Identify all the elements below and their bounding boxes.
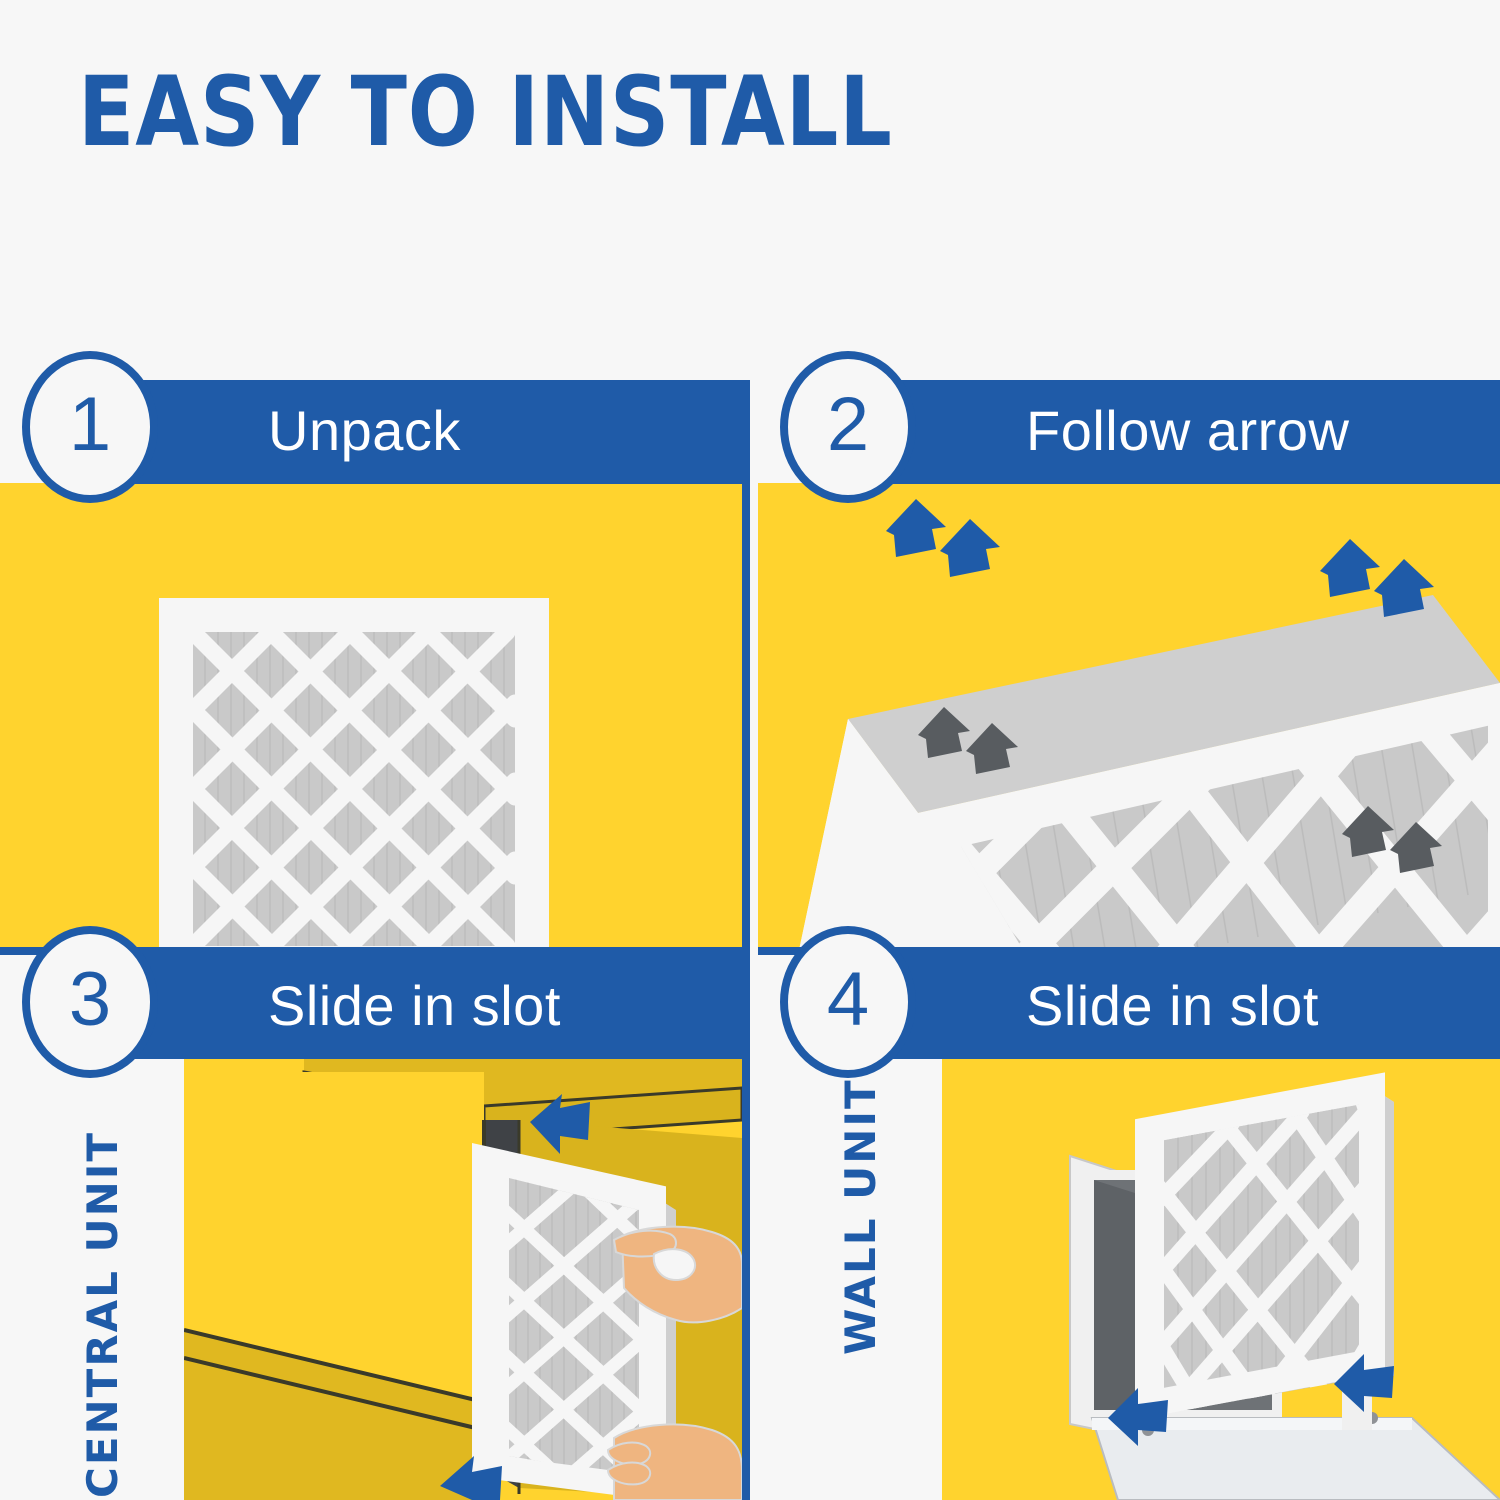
step-3-number: 3: [69, 962, 111, 1038]
step-4-number: 4: [827, 962, 869, 1038]
step-3-header-bar: Slide in slot: [78, 955, 750, 1059]
step-2-label: Follow arrow: [1026, 398, 1349, 463]
wall-unit-illustration: [942, 1058, 1500, 1500]
unpack-filter-illustration: [0, 483, 750, 955]
step-3-number-badge: 3: [22, 926, 158, 1078]
step-1-number: 1: [69, 387, 111, 463]
step-panel-1-body: [0, 483, 750, 955]
step-3-label: Slide in slot: [268, 973, 561, 1038]
hand-lower: [608, 1424, 742, 1500]
step-1-number-badge: 1: [22, 351, 158, 503]
follow-arrow-filter-illustration: [758, 483, 1500, 955]
step-4-header-bar: Slide in slot: [836, 955, 1500, 1059]
side-label-central-unit: CENTRAL UNIT: [78, 1078, 127, 1498]
infographic-root: EASY TO INSTALL: [0, 0, 1500, 1500]
step-panel-3-body: [184, 1058, 742, 1500]
step-4-label: Slide in slot: [1026, 973, 1319, 1038]
step-1-header-bar: Unpack: [78, 380, 750, 484]
side-label-wall-unit: WALL UNIT: [836, 1078, 885, 1355]
central-unit-illustration: [184, 1058, 742, 1500]
step-panel-4-body: [942, 1058, 1500, 1500]
step-4-number-badge: 4: [780, 926, 916, 1078]
step-2-number: 2: [827, 387, 869, 463]
step-panel-2-body: [758, 483, 1500, 955]
step-1-label: Unpack: [268, 398, 461, 463]
page-title: EASY TO INSTALL: [78, 62, 893, 163]
step-2-number-badge: 2: [780, 351, 916, 503]
step-2-header-bar: Follow arrow: [836, 380, 1500, 484]
